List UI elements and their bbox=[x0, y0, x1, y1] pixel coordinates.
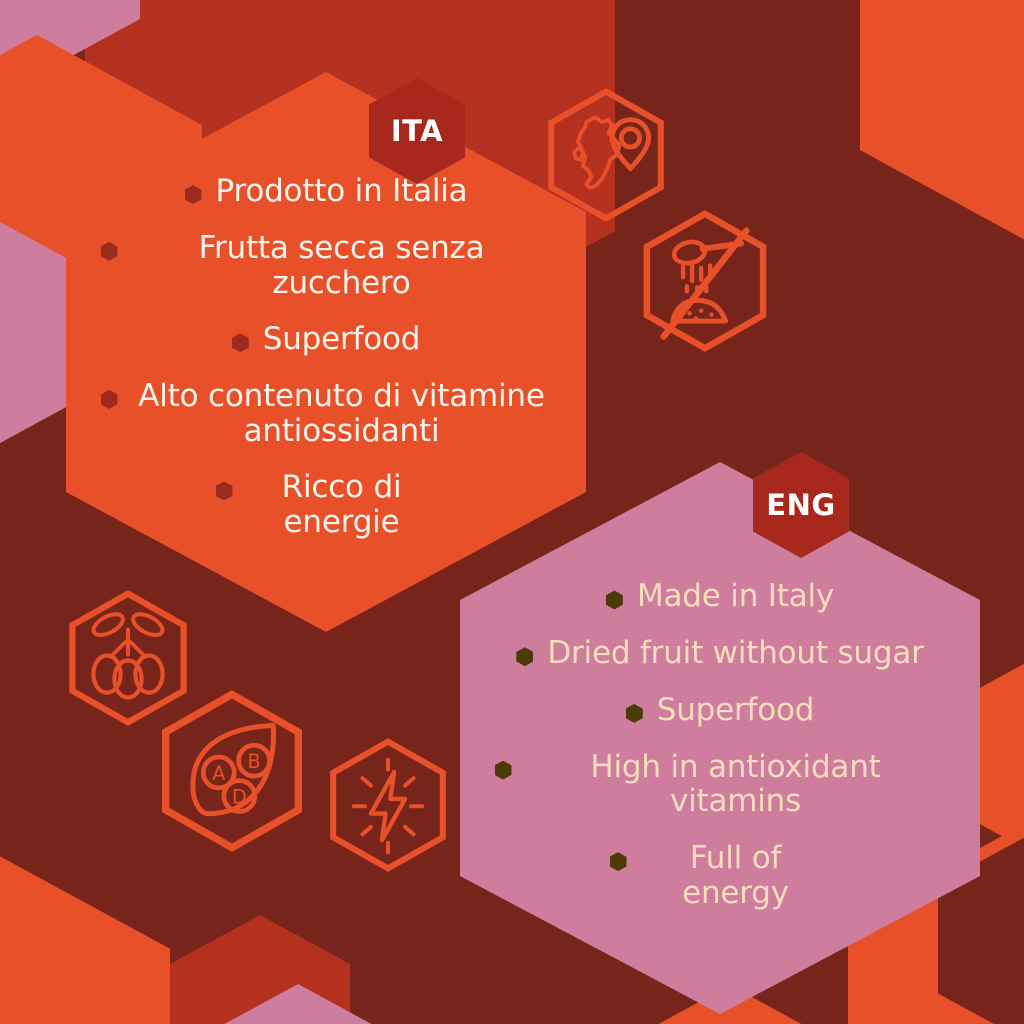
bg-hexring-orange-topright bbox=[860, 0, 1024, 240]
energy-bolt-icon bbox=[327, 738, 449, 872]
hexagon-bullet-icon bbox=[626, 704, 643, 723]
hexagon-bullet-icon bbox=[185, 185, 202, 204]
list-item: Alto contenuto di vitamine antiossidanti bbox=[100, 379, 552, 448]
vitamins-abd-icon: A B D bbox=[158, 690, 306, 852]
hexagon-bullet-icon bbox=[216, 481, 233, 500]
eng-benefit-list: Made in Italy Dried fruit without sugar … bbox=[490, 579, 950, 910]
hexagon-bullet-icon bbox=[516, 647, 533, 666]
vitamin-letter-b: B bbox=[248, 750, 261, 773]
ita-benefit-text: Prodotto in Italia bbox=[216, 174, 468, 209]
list-item: High in antioxidant vitamins bbox=[490, 750, 950, 819]
list-item: Full of energy bbox=[490, 841, 950, 910]
eng-benefit-text: Superfood bbox=[657, 693, 815, 728]
hexagon-bullet-icon bbox=[101, 242, 118, 261]
ita-benefit-text: Superfood bbox=[263, 322, 421, 357]
list-item: Frutta secca senza zucchero bbox=[100, 231, 552, 300]
list-item: Dried fruit without sugar bbox=[490, 636, 950, 671]
bg-hexring-orange-bottomleft bbox=[0, 855, 170, 1024]
list-item: Made in Italy bbox=[490, 579, 950, 614]
hexagon-bullet-icon bbox=[610, 852, 627, 871]
ita-benefit-text: Ricco di energie bbox=[247, 470, 437, 539]
vitamin-letter-d: D bbox=[232, 785, 247, 808]
eng-benefit-text: Full of energy bbox=[641, 841, 831, 910]
hexagon-bullet-icon bbox=[495, 761, 512, 780]
hexagon-bullet-icon bbox=[232, 333, 249, 352]
vitamin-letter-a: A bbox=[212, 762, 225, 785]
language-badge-ita-label: ITA bbox=[391, 114, 443, 148]
ita-benefit-text: Frutta secca senza zucchero bbox=[132, 231, 552, 300]
hexagon-bullet-icon bbox=[606, 590, 623, 609]
hexagon-bullet-icon bbox=[101, 390, 118, 409]
eng-benefit-text: Made in Italy bbox=[637, 579, 834, 614]
infographic-canvas: A B D Prodotto in Italia bbox=[0, 0, 1024, 1024]
eng-benefit-text: High in antioxidant vitamins bbox=[526, 750, 946, 819]
ita-benefit-text: Alto contenuto di vitamine antiossidanti bbox=[132, 379, 552, 448]
list-item: Prodotto in Italia bbox=[100, 174, 552, 209]
no-sugar-icon bbox=[640, 210, 770, 352]
list-item: Superfood bbox=[490, 693, 950, 728]
list-item: Ricco di energie bbox=[100, 470, 552, 539]
ita-benefit-list: Prodotto in Italia Frutta secca senza zu… bbox=[100, 174, 552, 540]
eng-benefit-text: Dried fruit without sugar bbox=[547, 636, 923, 671]
language-badge-eng-label: ENG bbox=[766, 488, 835, 522]
list-item: Superfood bbox=[100, 322, 552, 357]
